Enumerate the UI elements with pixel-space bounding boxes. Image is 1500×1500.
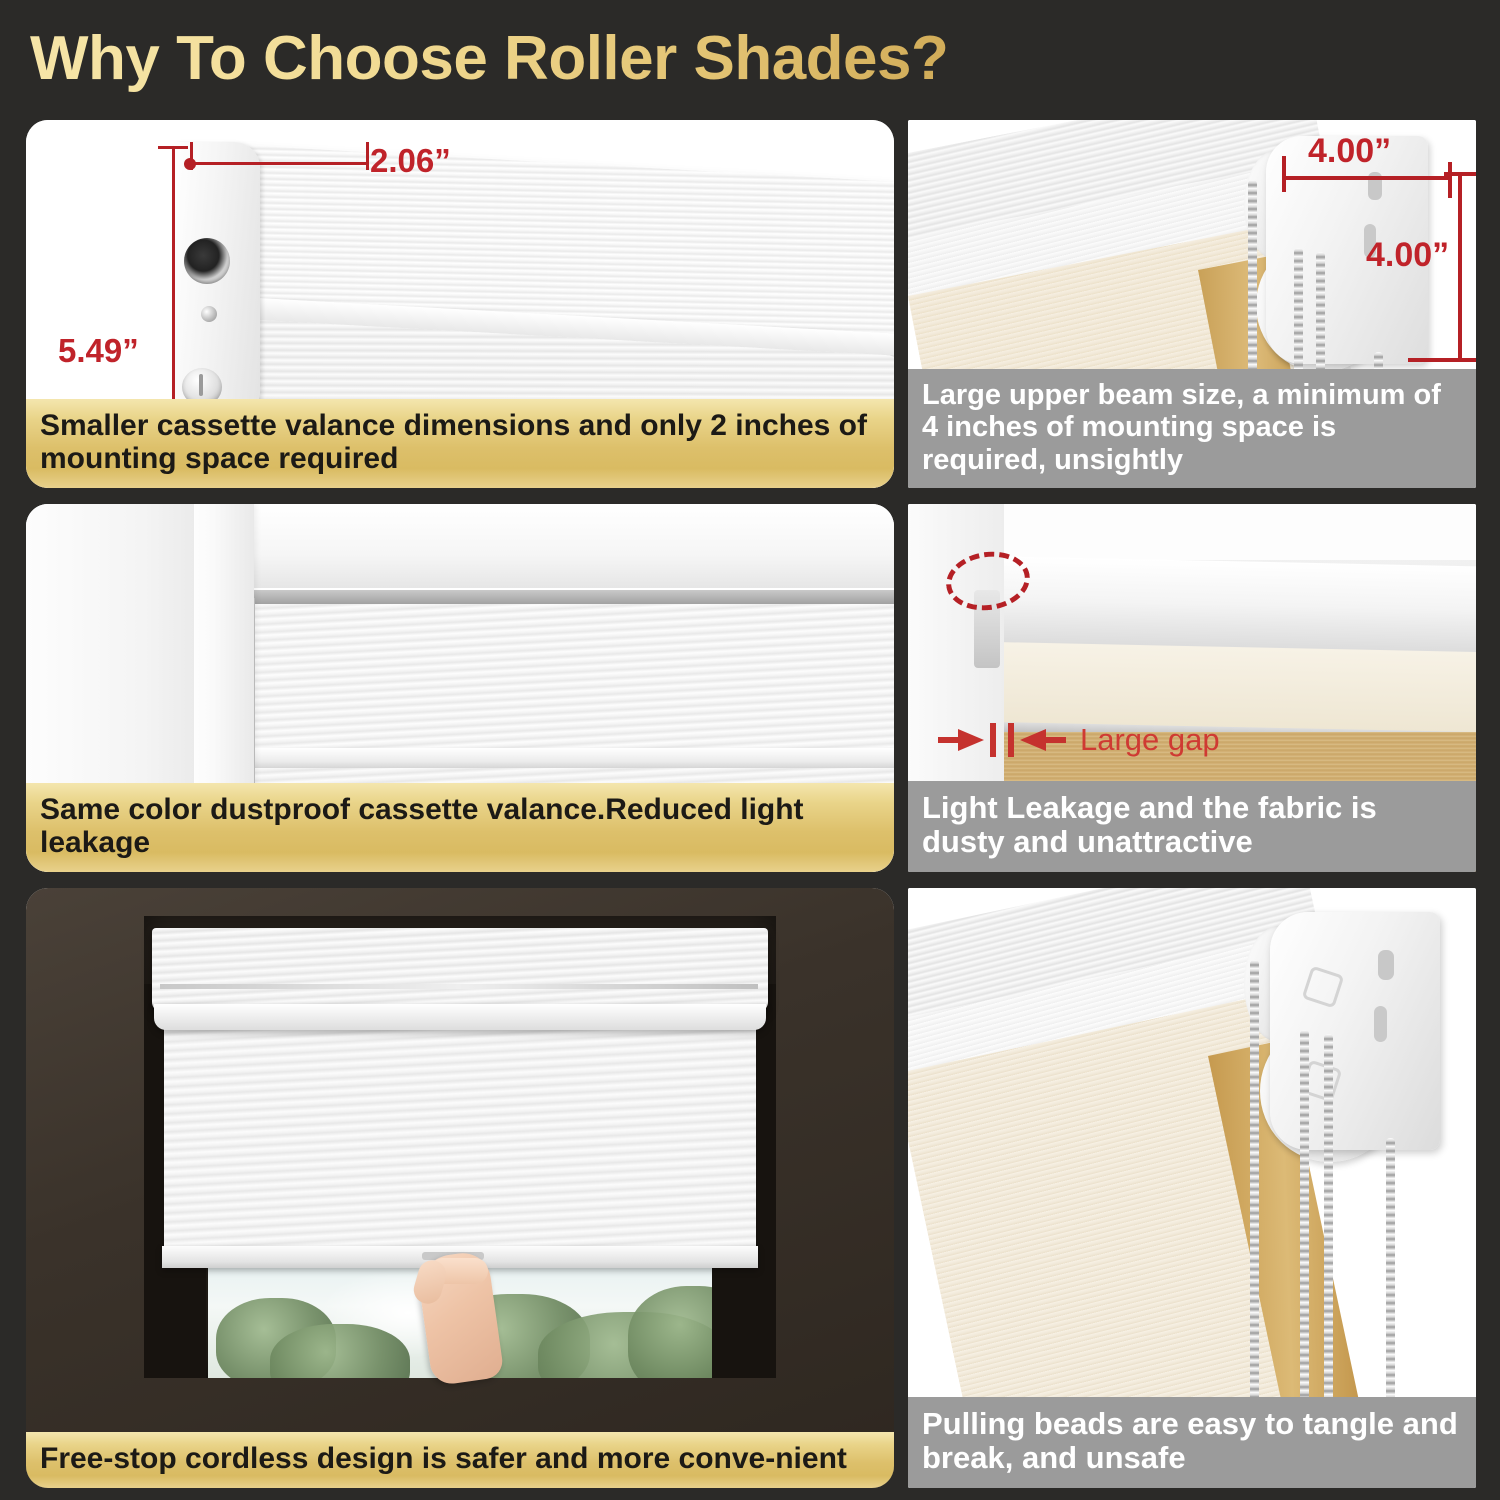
panel-free-stop-cordless-design[interactable]: Free-stop cordless design is safer and m… (26, 888, 894, 1488)
shade-upper-panel (248, 604, 894, 750)
panel-caption: Large upper beam size, a minimum of 4 in… (908, 369, 1476, 488)
roller-shade-fabric (164, 1028, 756, 1256)
height-dimension-line (172, 146, 175, 434)
room-scene-photo (26, 888, 894, 1488)
page-title: Why To Choose Roller Shades? (30, 18, 1230, 100)
width-dimension-label: 4.00” (1308, 132, 1391, 171)
screw-icon (201, 306, 217, 322)
arrow-stem (938, 737, 958, 743)
height-dimension-line (1458, 172, 1462, 362)
gap-tick (990, 723, 996, 757)
height-dimension-label: 5.49” (58, 332, 139, 370)
bracket-slot-lower-icon (1374, 1006, 1387, 1042)
panel-light-leakage-dusty-fabric[interactable]: Large gap Light Leakage and the fabric i… (908, 504, 1476, 872)
bead-chain[interactable] (1324, 1034, 1333, 1430)
height-dimension-tick-top (1444, 172, 1476, 176)
width-dimension-tick-left (1282, 156, 1286, 192)
arrow-right-icon (958, 729, 984, 751)
large-gap-annotation: Large gap (938, 722, 1220, 758)
comparison-grid: 5.49” 2.06” Smaller cassette valance dim… (0, 112, 1500, 1500)
gap-label: Large gap (1080, 722, 1220, 758)
bead-chain[interactable] (1386, 1138, 1395, 1430)
bracket-slot-upper-icon (1378, 950, 1394, 980)
panel-pulling-beads-unsafe[interactable]: Pulling beads are easy to tangle and bre… (908, 888, 1476, 1488)
panel-caption: Smaller cassette valance dimensions and … (26, 399, 894, 488)
width-dimension-line (190, 162, 368, 165)
tree-foliage (628, 1286, 712, 1378)
height-dimension-tick-bottom (1408, 358, 1476, 362)
panel-caption: Light Leakage and the fabric is dusty an… (908, 781, 1476, 872)
window-head-jamb (232, 504, 894, 588)
cassette-rail (250, 748, 894, 770)
height-dimension-label: 4.00” (1366, 236, 1449, 275)
mounting-bracket (1270, 912, 1440, 1150)
bead-chain[interactable] (1300, 1030, 1309, 1430)
panel-large-upper-beam[interactable]: 4.00” 4.00” Large upper beam size, a min… (908, 120, 1476, 488)
width-dimension-line (1282, 176, 1452, 180)
panel-caption: Same color dustproof cassette valance.Re… (26, 783, 894, 872)
cassette-valance (152, 928, 768, 1012)
width-dimension-tick-right (1448, 162, 1452, 198)
gap-tick (1008, 723, 1014, 757)
panel-cassette-valance-dimensions[interactable]: 5.49” 2.06” Smaller cassette valance dim… (26, 120, 894, 488)
arrow-stem (1046, 737, 1066, 743)
page-title-text: Why To Choose Roller Shades? (30, 18, 1230, 100)
cassette-seam (160, 984, 758, 989)
arrow-left-icon (1020, 729, 1046, 751)
bead-chain[interactable] (1250, 960, 1259, 1430)
panel-caption: Pulling beads are easy to tangle and bre… (908, 1397, 1476, 1488)
width-dimension-tick-right (366, 142, 369, 170)
dimension-anchor-dot-icon (184, 158, 196, 170)
panel-dustproof-cassette-valance[interactable]: smaller gap Same color dustproof cassett… (26, 504, 894, 872)
width-dimension-label: 2.06” (370, 142, 451, 180)
cassette-lip (154, 1004, 766, 1030)
height-dimension-tick-top (158, 146, 188, 149)
panel-caption: Free-stop cordless design is safer and m… (26, 1432, 894, 1488)
